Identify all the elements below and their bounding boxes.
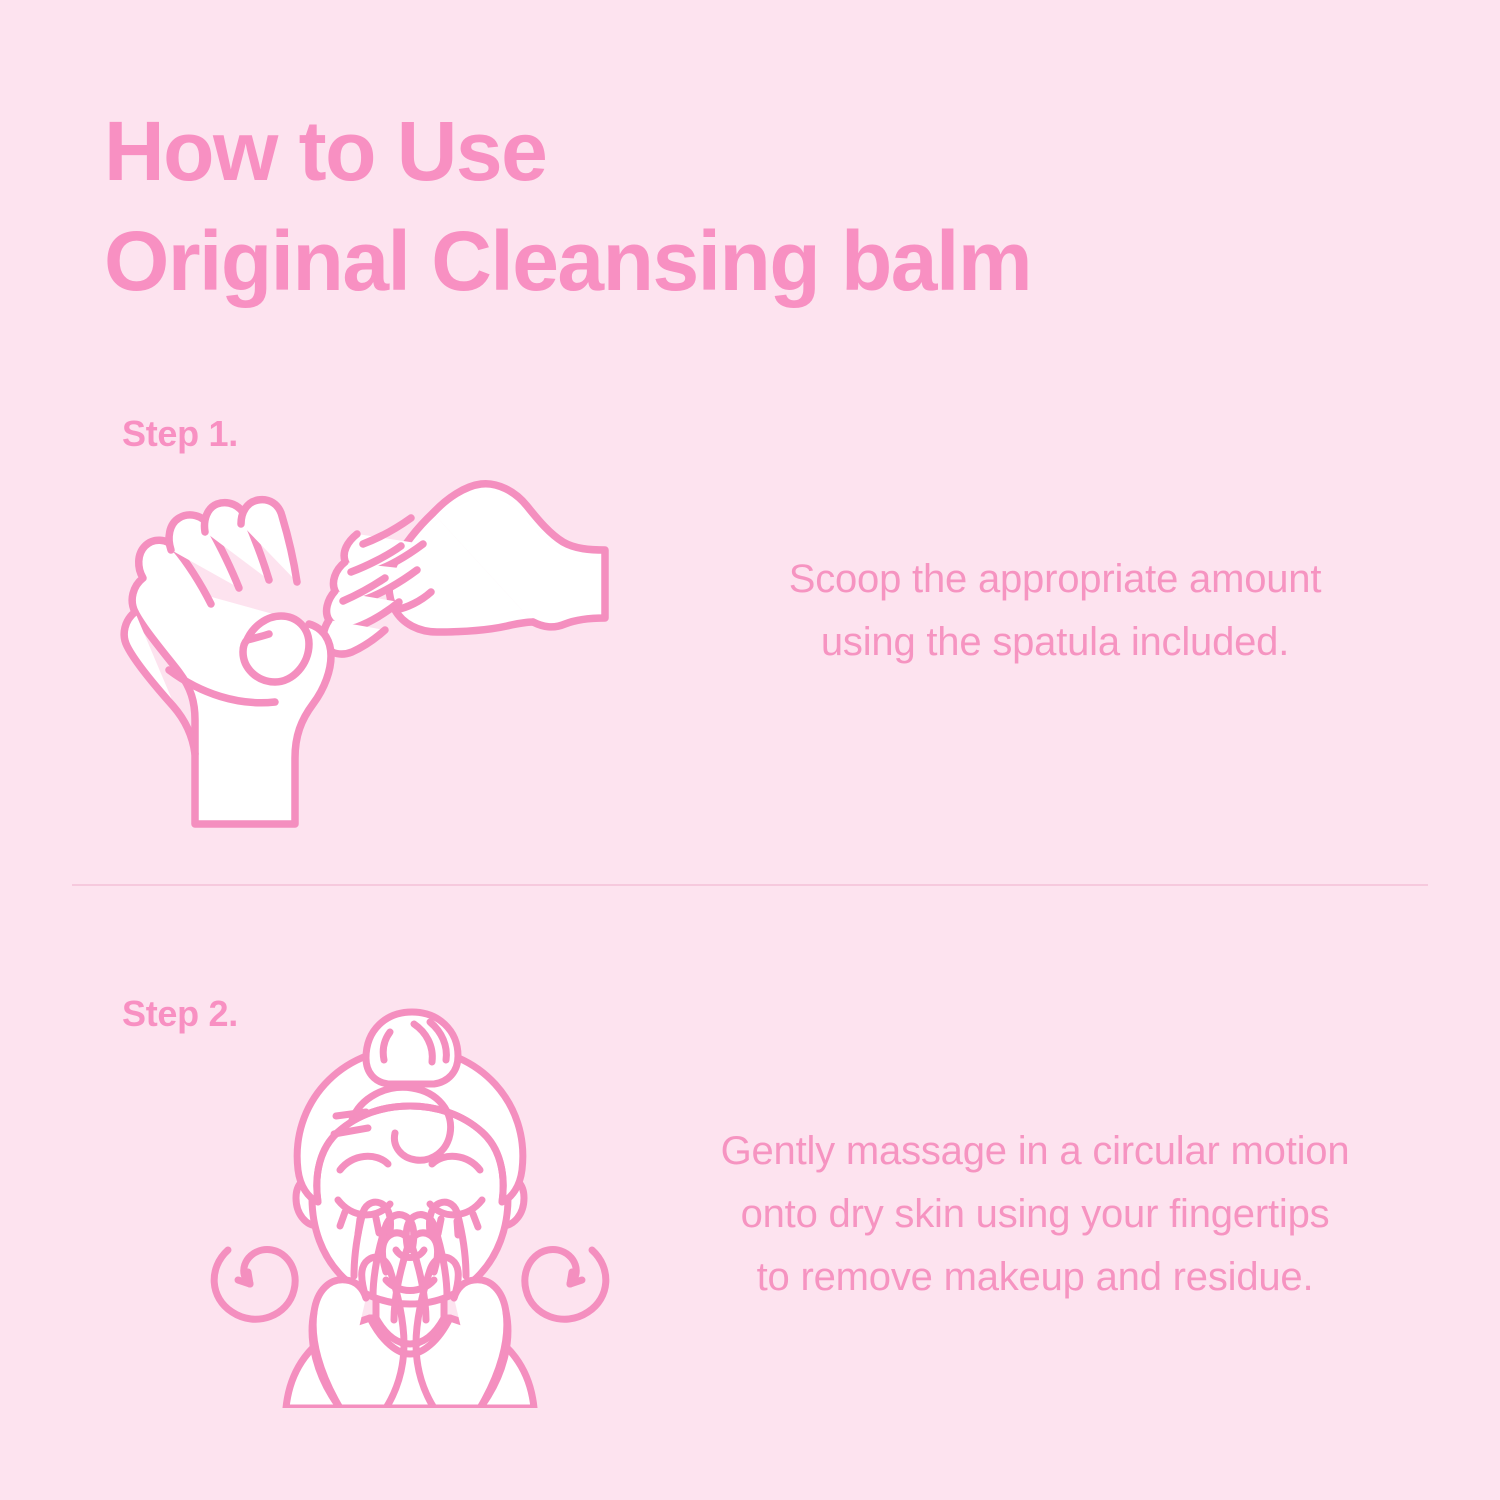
woman-massaging-face-illustration	[190, 988, 630, 1408]
step-2-text-line-1: Gently massage in a circular motion	[650, 1120, 1420, 1183]
step-1-text-line-1: Scoop the appropriate amount	[690, 548, 1420, 611]
how-to-use-infographic: How to Use Original Cleansing balm Step …	[0, 0, 1500, 1500]
step-description-2: Gently massage in a circular motion onto…	[650, 1120, 1420, 1309]
page-title-line-1: How to Use	[104, 96, 1354, 206]
step-1-text-line-2: using the spatula included.	[690, 611, 1420, 674]
step-2-text-line-3: to remove makeup and residue.	[650, 1246, 1420, 1309]
page-title: How to Use Original Cleansing balm	[104, 96, 1354, 316]
page-title-line-2: Original Cleansing balm	[104, 206, 1354, 316]
step-description-1: Scoop the appropriate amount using the s…	[690, 548, 1420, 674]
step-section-1: Step 1.	[0, 400, 1500, 840]
step-label-1: Step 1.	[122, 412, 238, 456]
step-2-text-line-2: onto dry skin using your fingertips	[650, 1183, 1420, 1246]
section-divider	[72, 884, 1428, 886]
hand-with-balm-and-spatula-illustration	[95, 458, 655, 828]
step-section-2: Step 2.	[0, 970, 1500, 1410]
